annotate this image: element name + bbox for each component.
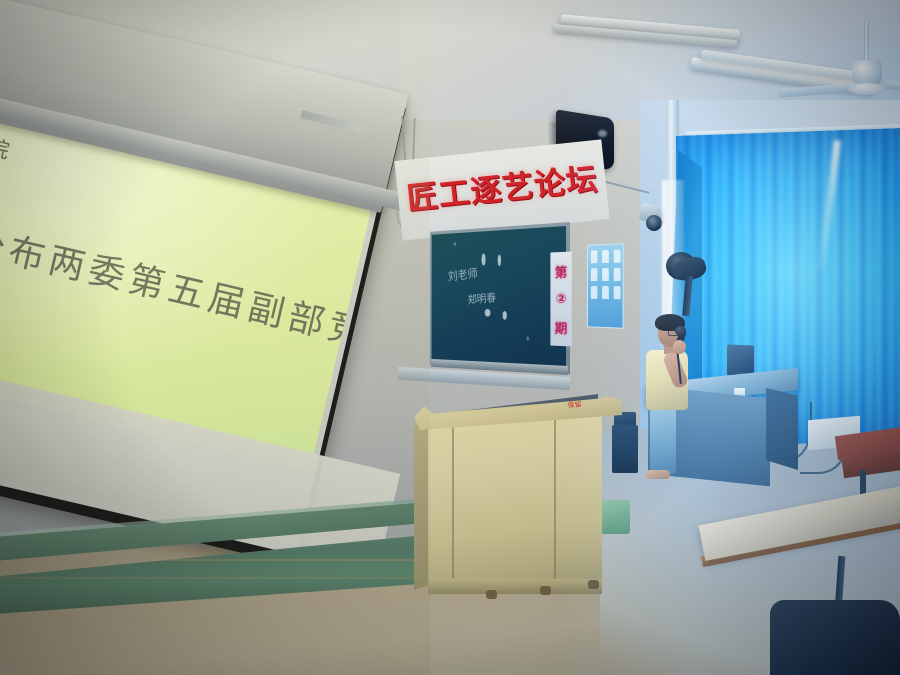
presenter-foot — [646, 470, 670, 479]
case-brand-label — [300, 110, 362, 132]
sign-char: 期 — [555, 317, 568, 336]
speaker-highlight — [598, 130, 607, 137]
wall-poster — [587, 243, 624, 328]
lectern-sticker: 保留 — [565, 402, 584, 415]
sign-char: 第 — [555, 261, 568, 280]
presenter-hand — [673, 340, 686, 354]
foreground-chair — [770, 600, 900, 675]
sign-char: ② — [556, 291, 567, 306]
lectern-base — [428, 578, 602, 594]
slide-headline: 二、公布两委第五届副部竞选结果 — [0, 194, 394, 385]
waste-bin — [600, 500, 630, 534]
classroom-photo: 工程学院 二、公布两委第五届副部竞选结果 匠工逐艺论坛 刘老师 郑明春 第 ② … — [0, 0, 900, 675]
side-chair — [612, 425, 638, 473]
chalk-text: 刘老师 — [447, 263, 478, 284]
blackboard: 刘老师 郑明春 — [432, 226, 566, 368]
computer-monitor — [727, 344, 754, 375]
ceiling-fan-rod — [864, 22, 869, 64]
camera-lens-icon — [646, 215, 662, 231]
lectern-foot — [540, 586, 551, 595]
chalk-text: 郑明春 — [467, 289, 497, 307]
microphone-head-icon — [675, 326, 686, 336]
lectern-foot — [588, 580, 599, 589]
ceiling-fan-cap — [848, 83, 886, 95]
issue-number-sign: 第 ② 期 — [550, 252, 571, 347]
presenter-legs — [650, 406, 676, 474]
lectern-front-panel — [428, 416, 602, 596]
lectern-foot — [486, 590, 497, 599]
